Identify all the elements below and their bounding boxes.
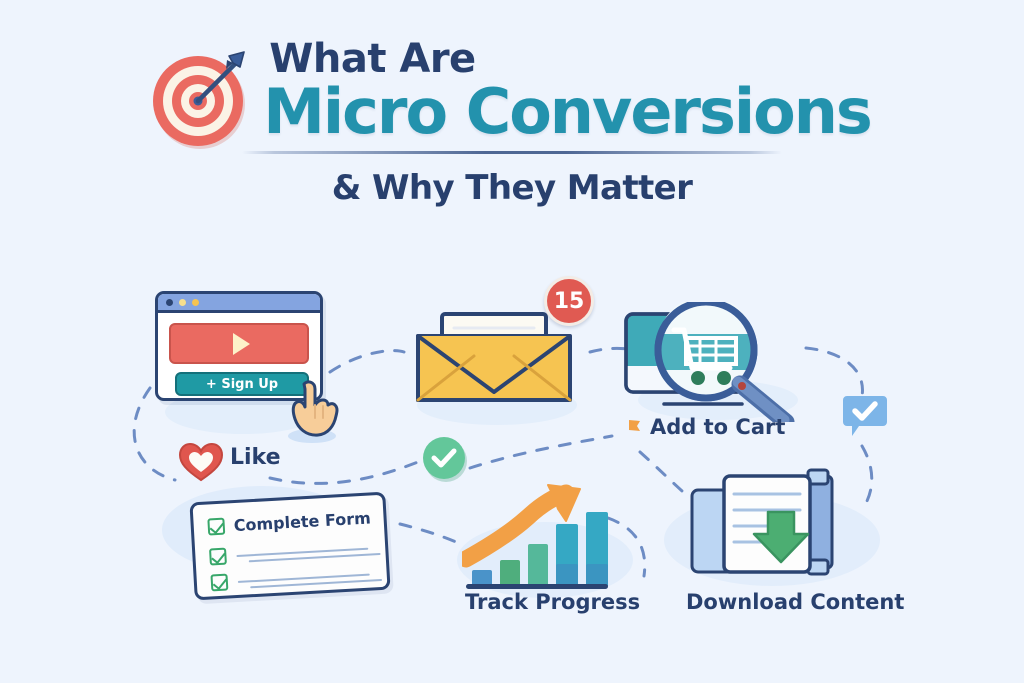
chart-label: Track Progress (465, 590, 640, 614)
target-bullseye-arrow-icon (147, 46, 251, 150)
chart-bar (500, 560, 520, 586)
window-dot-yellow-icon[interactable] (179, 299, 186, 306)
like-label: Like (230, 445, 281, 470)
title-text-block: What Are Micro Conversions (263, 38, 871, 143)
download-label: Download Content (686, 590, 904, 614)
pointing-hand-cursor-icon (282, 378, 344, 444)
title-line-3: & Why They Matter (0, 168, 1024, 208)
notification-badge: 15 (544, 276, 594, 326)
chart-bar-base-shade (556, 564, 578, 586)
checkbox-checked-icon[interactable] (210, 574, 228, 592)
form-row-title[interactable]: Complete Form (207, 508, 371, 536)
title-row: What Are Micro Conversions (153, 38, 871, 143)
cart-label: Add to Cart (650, 415, 785, 439)
title-line-1: What Are (269, 38, 871, 80)
like-node[interactable]: Like (178, 440, 288, 484)
green-check-circle-icon[interactable] (423, 437, 465, 479)
open-envelope-icon[interactable]: 15 (412, 300, 576, 406)
form-title-label: Complete Form (233, 508, 371, 535)
form-row-3[interactable] (210, 566, 370, 592)
header: What Are Micro Conversions & Why They Ma… (0, 38, 1024, 208)
window-dot-amber-icon[interactable] (192, 299, 199, 306)
chat-bubble-check-icon[interactable] (843, 392, 887, 438)
chart-baseline (466, 584, 608, 589)
form-row-2[interactable] (209, 540, 369, 566)
window-dot-dark-icon[interactable] (166, 299, 173, 306)
video-player[interactable] (169, 323, 309, 364)
checkbox-checked-icon[interactable] (209, 548, 227, 566)
title-divider (242, 151, 782, 154)
chart-bar-base-shade (586, 564, 608, 586)
checkbox-checked-icon[interactable] (207, 518, 225, 536)
browser-title-bar (158, 294, 320, 313)
heart-icon[interactable] (178, 442, 224, 482)
orange-flag-marker-icon (627, 419, 642, 435)
play-button-icon[interactable] (233, 333, 250, 355)
form-card-body: Complete Form (189, 492, 390, 601)
document-download-icon[interactable] (690, 468, 850, 584)
checklist-card[interactable]: Complete Form (192, 497, 392, 601)
chart-bar (528, 544, 548, 586)
magnifying-glass-shopping-cart-icon[interactable] (622, 302, 812, 422)
title-line-2: Micro Conversions (263, 81, 871, 143)
infographic-canvas: What Are Micro Conversions & Why They Ma… (0, 0, 1024, 683)
growth-bar-chart-icon[interactable] (462, 483, 612, 593)
